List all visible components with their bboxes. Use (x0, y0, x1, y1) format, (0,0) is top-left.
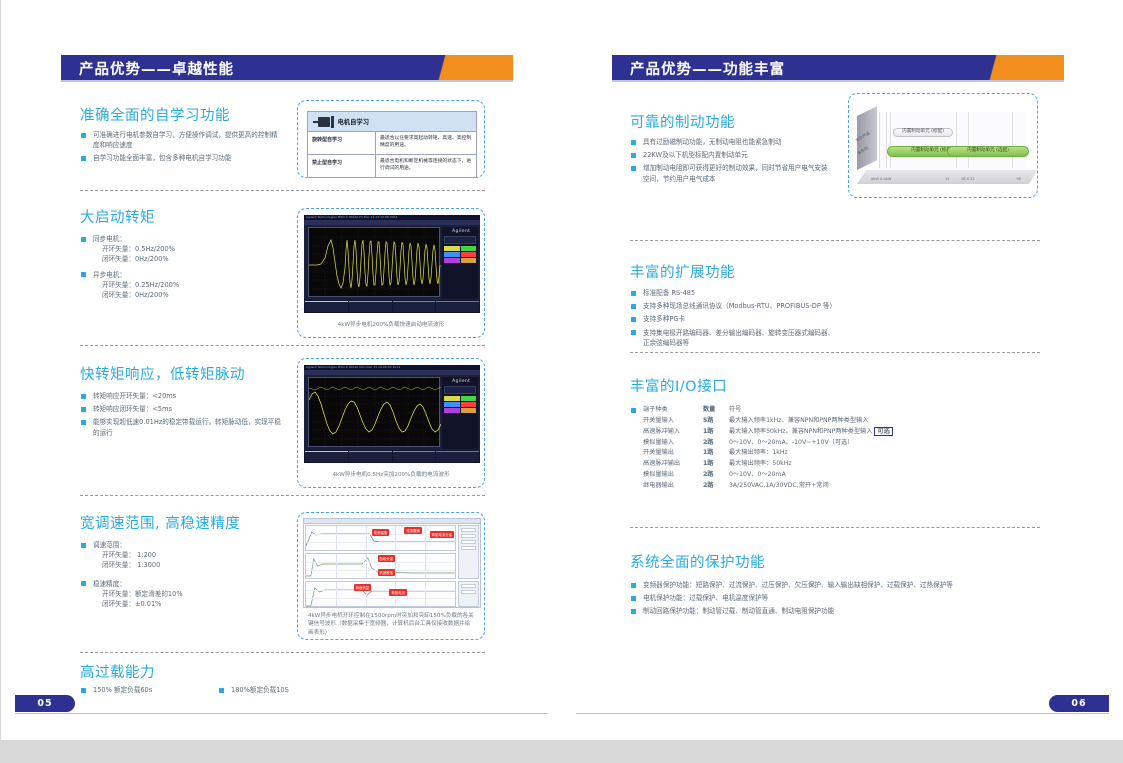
table-row: 禁止型自学习 最适合电机和断定机械等连接的状态下，进行调试的用途。 (308, 155, 476, 177)
bullet-lead: 调速范围： (93, 540, 281, 550)
recorder-pane-1: 电流幅值 电流断续 转矩电流分量 (305, 525, 456, 551)
left-page-header: 产品优势——卓越性能 (61, 55, 513, 80)
bullets-start-torque: 同步电机： 开环矢量：0.5Hz/200% 闭环矢量：0Hz/200% 异步电机… (81, 234, 281, 303)
list-item: 转矩响应开环矢量：<20ms (81, 391, 281, 401)
scope-channel-row (444, 408, 476, 413)
right-page: 产品优势——功能丰富 可靠的制动功能 具有过励磁制动功能，无制动电阻也能紧急制动… (562, 0, 1123, 740)
footer-rule (576, 713, 1109, 714)
scope-menubar (304, 220, 480, 225)
bullet-sub: 开环矢量：0.25Hz/200% (93, 280, 281, 290)
motor-self-learning-table: 电机自学习 旋转型自学习 最适合以任要求高起动转矩、高速、高控制精度的用途。 禁… (307, 111, 477, 178)
divider (630, 527, 1040, 528)
figure-frame-scope-startup: Agilent Technologies MSO-X 3024A Fri Dec… (297, 208, 485, 338)
right-page-header: 产品优势——功能丰富 (612, 55, 1064, 80)
cell-qty: 2路 (703, 481, 729, 492)
cell-qty: 2路 (703, 438, 729, 449)
row-label: 禁止型自学习 (308, 155, 376, 177)
divider (80, 345, 485, 346)
list-item: 异步电机： 开环矢量：0.25Hz/200% 闭环矢量：0Hz/200% (81, 270, 281, 301)
list-item: 转矩响应闭环矢量：<5ms (81, 404, 281, 414)
figure-frame-brake-diagram: 其它产品 本系列 内置制动单元 (标配) 内置制动单元 (标配) 内置制动单元 … (848, 93, 1038, 198)
brake-range-diagram: 其它产品 本系列 内置制动单元 (标配) 内置制动单元 (标配) 内置制动单元 … (857, 108, 1029, 184)
bullet-sub: 开环矢量： 1:200 (93, 550, 281, 560)
scope-channel-row (444, 402, 476, 407)
cell-type: 模拟量输入 (643, 438, 703, 449)
table-row: 模拟量输出 2路 0～10V、0～20mA (643, 470, 991, 481)
cell-spec: 最大输出频率：50kHz (729, 459, 991, 470)
col-header-type: 端子种类 (643, 405, 703, 416)
bullet-lead: 稳速精度： (93, 579, 281, 589)
cell-qty: 2路 (703, 470, 729, 481)
scope-sidebar: Agilent (442, 377, 478, 449)
header-slash (980, 55, 1006, 80)
bullet-sub: 闭环矢量： 1:3000 (93, 560, 281, 570)
io-section-body: 端子种类 数量 符号 开关量输入 5路 最大输入频率1kHz、兼容NPN和PNP… (631, 405, 991, 492)
brochure-spread: 产品优势——卓越性能 准确全面的自学习功能 可准确进行电机参数自学习，方便操作调… (0, 0, 1123, 763)
divider (630, 352, 1040, 353)
page-number-right: 06 (1049, 695, 1109, 712)
cell-type: 开关量输入 (643, 416, 703, 427)
recorder-toolbar (304, 519, 480, 524)
data-recorder-screenshot: 电流幅值 电流断续 转矩电流分量 励磁分量 转速跌落 (303, 518, 481, 608)
recorder-right-panel (458, 581, 479, 607)
section-heading-io: 丰富的I/O接口 (630, 375, 727, 396)
bullets-self-learning: 可准确进行电机参数自学习，方便操作调试，提供更高的控制精度和响应速度 自学习功能… (81, 130, 281, 167)
bullet-lead: 同步电机： (93, 234, 281, 244)
axis-label: 15 (945, 177, 950, 181)
annotation-badge: 电流断续 (404, 527, 422, 534)
axis-label: 90 (1016, 177, 1021, 181)
cell-spec: 0～10V、0～20mA、-10V~+10V（可选） (729, 438, 991, 449)
list-item: 支持多种现场总线通讯协议（Modbus-RTU、PROFIBUS-DP 等） (631, 301, 961, 311)
table-header-row: 端子种类 数量 符号 (643, 405, 991, 416)
scope-channel-row (444, 396, 476, 401)
section-heading-torque-response: 快转矩响应，低转矩脉动 (80, 363, 245, 384)
axis-label: 0kW 0.4kW (871, 177, 891, 181)
figure-caption: 4kW异步电机200%负载快速启动电流波形 (304, 321, 478, 329)
bullet-sub: 闭环矢量：±0.01% (93, 599, 281, 609)
col-header-spec: 符号 (729, 405, 991, 416)
table-row: 高速脉冲输入 1路 最大输入频率50kHz、兼容NPN和PNP两种类型输入 可选 (643, 427, 991, 438)
divider (80, 652, 485, 653)
page-number-left: 05 (15, 695, 75, 712)
optional-badge: 可选 (874, 427, 892, 436)
cell-spec: 最大输入频率50kHz、兼容NPN和PNP两种类型输入 可选 (729, 427, 991, 438)
list-item: 可准确进行电机参数自学习，方便操作调试，提供更高的控制精度和响应速度 (81, 130, 281, 150)
cell-qty: 1路 (703, 448, 729, 459)
list-item: 支持多种PG卡 (631, 314, 961, 324)
bullet-sub: 开环矢量：额定滑差的10% (93, 589, 281, 599)
section-heading-speed-range: 宽调速范围, 高稳速精度 (80, 512, 240, 533)
section-heading-expansion: 丰富的扩展功能 (630, 261, 735, 282)
table-row: 模拟量输入 2路 0～10V、0～20mA、-10V~+10V（可选） (643, 438, 991, 449)
list-item: 调速范围： 开环矢量： 1:200 闭环矢量： 1:3000 (81, 540, 281, 571)
scope-channel-row (444, 246, 476, 251)
divider (80, 495, 485, 496)
footer-rule (15, 713, 548, 714)
section-heading-self-learning: 准确全面的自学习功能 (80, 104, 230, 125)
annotation-badge: 转速跌落 (378, 569, 396, 576)
list-item: 自学习功能全面丰富，包含多种电机自学习功能 (81, 153, 281, 163)
scope-measure-block (444, 236, 476, 244)
bullets-torque-response: 转矩响应开环矢量：<20ms 转矩响应闭环矢量：<5ms 能够实现超低速0.01… (81, 391, 281, 441)
section-heading-overload: 高过载能力 (80, 661, 155, 682)
scope-channel-row (444, 252, 476, 257)
cell-spec: 3A/250VAC,1A/30VDC,常开+常闭 (729, 481, 991, 492)
bullets-speed-range: 调速范围： 开环矢量： 1:200 闭环矢量： 1:3000 稳速精度： 开环矢… (81, 540, 281, 612)
scope-measure-block (444, 386, 476, 394)
diagram-plane (879, 112, 1027, 168)
scope-waveform (309, 378, 441, 448)
cell-spec: 0～10V、0～20mA (729, 470, 991, 481)
list-item: 支持集电极开路编码器、差分输出编码器、旋转变压器式编码器、正余弦编码器等 (631, 328, 836, 348)
list-item: 同步电机： 开环矢量：0.5Hz/200% 闭环矢量：0Hz/200% (81, 234, 281, 265)
recorder-right-panel (458, 525, 479, 579)
list-item: 电机保护功能：过载保护、电机温度保护等 (631, 593, 1041, 603)
table-header-row: 电机自学习 (308, 112, 476, 132)
cell-type: 高速脉冲输出 (643, 459, 703, 470)
divider (80, 190, 485, 191)
scope-grid (308, 227, 440, 297)
section-heading-protection: 系统全面的保护功能 (630, 551, 765, 572)
section-heading-braking: 可靠的制动功能 (630, 111, 735, 132)
bullet-sub: 闭环矢量：0Hz/200% (93, 290, 281, 300)
scope-channel-row (444, 258, 476, 263)
list-item: 变频器保护功能：短路保护、过流保护、过压保护、欠压保护、输入输出缺相保护、过载保… (631, 580, 1041, 590)
brake-pill-other: 内置制动单元 (标配) (893, 128, 953, 137)
figure-caption: 4kW异步电机0.5Hz突加200%负载的电流波形 (304, 471, 478, 479)
cell-qty: 1路 (703, 427, 729, 438)
section-heading-start-torque: 大启动转矩 (80, 206, 155, 227)
list-item: 制动回路保护功能：制动管过载、制动管直通、制动电阻保护功能 (631, 606, 1041, 616)
table-row: 开关量输出 1路 最大输出频率：1kHz (643, 448, 991, 459)
header-underline (61, 80, 513, 82)
motor-icon (313, 116, 334, 128)
recorder-pane-2: 励磁分量 转速跌落 (305, 553, 456, 579)
io-table: 端子种类 数量 符号 开关量输入 5路 最大输入频率1kHz、兼容NPN和PNP… (643, 405, 991, 492)
row-desc: 最适合以任要求高起动转矩、高速、高控制精度的用途。 (376, 132, 476, 154)
scope-channel-bar (304, 450, 480, 463)
cell-type: 高速脉冲输入 (643, 427, 703, 438)
brake-pill-optional: 内置制动单元 (选配) (947, 146, 1029, 157)
left-page-title: 产品优势——卓越性能 (79, 58, 234, 79)
header-slash (429, 55, 455, 80)
list-item: 180%额定负载10S (219, 685, 349, 695)
recorder-pane-3: 转速恢复 转矩电流 (305, 581, 456, 607)
list-item: 22KW及以下机型标配内置制动单元 (631, 150, 831, 160)
list-item: 150% 额定负载60s (81, 685, 211, 695)
cell-type: 继电器输出 (643, 481, 703, 492)
scope-brand-label: Agilent (442, 377, 478, 384)
table-row: 开关量输入 5路 最大输入频率1kHz、兼容NPN和PNP两种类型输入 (643, 416, 991, 427)
table-title: 电机自学习 (338, 117, 369, 126)
scope-menubar (304, 370, 480, 375)
right-page-title: 产品优势——功能丰富 (630, 58, 785, 79)
annotation-badge: 电流幅值 (372, 529, 390, 536)
row-label: 旋转型自学习 (308, 132, 376, 154)
bullets-expansion: 标准配备 RS-485 支持多种现场总线通讯协议（Modbus-RTU、PROF… (631, 288, 961, 351)
bullet-sub: 开环矢量：0.5Hz/200% (93, 244, 281, 254)
io-bullet: 端子种类 数量 符号 开关量输入 5路 最大输入频率1kHz、兼容NPN和PNP… (631, 405, 991, 492)
scope-grid (308, 377, 440, 447)
list-item: 能够实现超低速0.01Hz的稳定带载运行，转矩脉动低，实现平稳的运行 (81, 417, 281, 437)
bullet-sub: 闭环矢量：0Hz/200% (93, 254, 281, 264)
row-desc: 最适合电机和断定机械等连接的状态下，进行调试的用途。 (376, 155, 476, 177)
scope-channel-bar (304, 300, 480, 313)
oscilloscope-screenshot-lowspeed: Agilent Technologies MSO-X 3024A Mon Dec… (304, 365, 480, 463)
annotation-badge: 转矩电流分量 (430, 531, 454, 538)
bullets-overload-b: 180%额定负载10S (219, 685, 349, 698)
annotation-badge: 励磁分量 (378, 555, 396, 562)
header-orange-block (1006, 55, 1064, 80)
cell-type: 模拟量输出 (643, 470, 703, 481)
bullets-overload-a: 150% 额定负载60s (81, 685, 211, 698)
divider (630, 240, 1040, 241)
table-row: 旋转型自学习 最适合以任要求高起动转矩、高速、高控制精度的用途。 (308, 132, 476, 155)
header-underline (612, 80, 1064, 82)
figure-frame-scope-lowspeed: Agilent Technologies MSO-X 3024A Mon Dec… (297, 358, 485, 488)
cell-spec: 最大输出频率：1kHz (729, 448, 991, 459)
cell-qty: 1路 (703, 459, 729, 470)
table-row: 继电器输出 2路 3A/250VAC,1A/30VDC,常开+常闭 (643, 481, 991, 492)
cell-spec: 最大输入频率1kHz、兼容NPN和PNP两种类型输入 (729, 416, 991, 427)
annotation-badge: 转矩电流 (389, 589, 407, 596)
cell-type: 开关量输出 (643, 448, 703, 459)
col-header-qty: 数量 (703, 405, 729, 416)
oscilloscope-screenshot-startup: Agilent Technologies MSO-X 3024A Fri Dec… (304, 215, 480, 313)
list-item: 稳速精度： 开环矢量：额定滑差的10% 闭环矢量：±0.01% (81, 579, 281, 610)
scope-sidebar: Agilent (442, 227, 478, 299)
cell-qty: 5路 (703, 416, 729, 427)
bullets-protection: 变频器保护功能：短路保护、过流保护、过压保护、欠压保护、输入输出缺相保护、过载保… (631, 580, 1041, 620)
figure-frame-motor-table: 电机自学习 旋转型自学习 最适合以任要求高起动转矩、高速、高控制精度的用途。 禁… (297, 100, 485, 178)
bullet-square-icon (631, 408, 636, 413)
header-orange-block (455, 55, 513, 80)
left-page: 产品优势——卓越性能 准确全面的自学习功能 可准确进行电机参数自学习，方便操作调… (1, 0, 562, 740)
bullets-braking: 具有过励磁制动功能，无制动电阻也能紧急制动 22KW及以下机型标配内置制动单元 … (631, 137, 831, 187)
figure-caption: 4kW异步电机开环控制在1500rpm时突加和突卸150%负载的各关键信号波形（… (304, 612, 478, 637)
list-item: 具有过励磁制动功能，无制动电阻也能紧急制动 (631, 137, 831, 147)
table-row: 高速脉冲输出 1路 最大输出频率：50kHz (643, 459, 991, 470)
annotation-badge: 转速恢复 (354, 584, 372, 591)
list-item: 增加制动电阻即可获得更好的制动效果，同时节省用户电气安装空间，节约用户电气成本 (631, 163, 831, 183)
scope-waveform (309, 228, 441, 298)
axis-label: 18.5 22 (961, 177, 975, 181)
scope-brand-label: Agilent (442, 227, 478, 234)
bullet-lead: 异步电机： (93, 270, 281, 280)
list-item: 标准配备 RS-485 (631, 288, 961, 298)
recorder-trace-3 (306, 582, 455, 608)
figure-frame-recorder: 电流幅值 电流断续 转矩电流分量 励磁分量 转速跌落 (297, 512, 485, 640)
